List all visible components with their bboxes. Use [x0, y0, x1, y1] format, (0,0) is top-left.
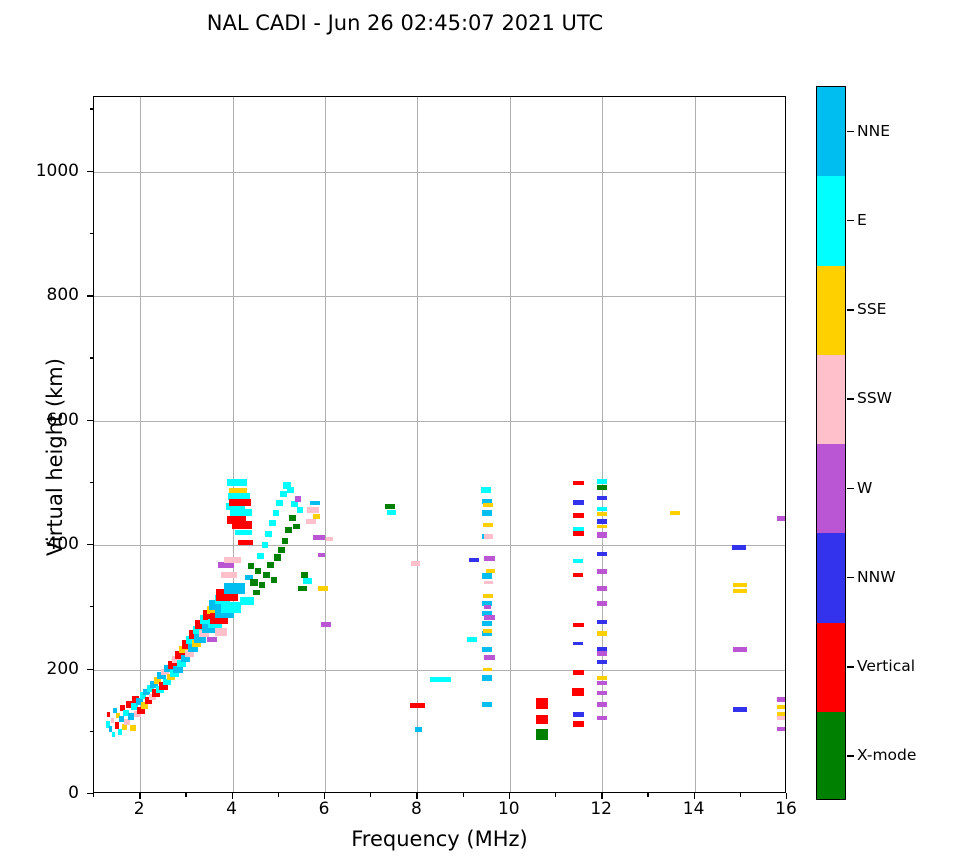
echo-mark [777, 705, 786, 709]
echo-mark [483, 503, 493, 507]
echo-mark [221, 602, 241, 613]
colorbar-segment-w [817, 444, 845, 533]
colorbar [816, 86, 846, 800]
echo-mark [597, 512, 607, 516]
echo-mark [573, 500, 584, 505]
y-tick-label-1000: 1000 [0, 161, 79, 181]
echo-mark [484, 556, 494, 561]
gridline-x-4 [233, 97, 234, 792]
echo-mark [306, 519, 316, 524]
colorbar-segment-x-mode [817, 712, 845, 800]
echo-mark [313, 514, 319, 518]
y-tick-label-200: 200 [0, 659, 79, 679]
echo-mark [271, 577, 277, 583]
echo-mark [484, 534, 493, 538]
y-minor-tick-700 [90, 357, 94, 358]
x-axis-label: Frequency (MHz) [93, 827, 786, 851]
echo-mark [597, 496, 607, 500]
gridline-x-14 [695, 97, 696, 792]
echo-mark [483, 594, 493, 598]
echo-mark [483, 668, 492, 672]
colorbar-label-sse: SSE [857, 300, 886, 318]
echo-mark [597, 631, 607, 635]
colorbar-segment-sse [817, 266, 845, 355]
x-tick-label-4: 4 [226, 799, 237, 819]
gridline-x-2 [140, 97, 141, 792]
gridline-y-400 [94, 545, 785, 546]
echo-mark [321, 622, 331, 627]
y-tick-600 [87, 420, 93, 421]
colorbar-label-w: W [857, 479, 872, 497]
echo-mark [481, 487, 491, 493]
y-tick-400 [87, 544, 93, 545]
echo-mark [298, 586, 307, 592]
echo-mark [597, 552, 607, 556]
echo-mark [285, 527, 292, 533]
gridline-x-12 [602, 97, 603, 792]
echo-mark [265, 531, 271, 537]
echo-mark [777, 516, 786, 521]
echo-mark [122, 724, 128, 730]
x-tick-label-14: 14 [683, 799, 705, 819]
y-tick-label-400: 400 [0, 534, 79, 554]
echo-mark [467, 637, 477, 641]
echo-mark [263, 572, 270, 578]
echo-mark [297, 507, 303, 513]
echo-mark [259, 582, 265, 588]
x-tick-label-8: 8 [411, 799, 422, 819]
echo-mark [229, 499, 250, 506]
y-tick-0 [87, 793, 93, 794]
y-tick-1000 [87, 171, 93, 172]
echo-mark [411, 561, 420, 566]
echo-mark [235, 530, 253, 536]
x-minor-tick-7 [370, 793, 371, 797]
y-tick-label-800: 800 [0, 285, 79, 305]
echo-mark [253, 590, 259, 596]
y-tick-label-0: 0 [0, 783, 79, 803]
x-minor-tick-1 [93, 793, 94, 797]
echo-mark [573, 573, 583, 577]
echo-mark [597, 507, 607, 511]
echo-mark [130, 725, 136, 731]
echo-mark [232, 521, 252, 528]
x-minor-tick-3 [185, 793, 186, 797]
gridline-y-600 [94, 421, 785, 422]
echo-mark [262, 542, 268, 548]
echo-mark [536, 729, 548, 740]
echo-mark [282, 538, 288, 544]
echo-mark [482, 702, 492, 708]
echo-mark [597, 716, 607, 720]
echo-mark [482, 621, 492, 626]
colorbar-tick-nnw [847, 577, 854, 578]
echo-mark [572, 688, 584, 697]
echo-mark [295, 496, 301, 502]
colorbar-segment-ssw [817, 355, 845, 444]
echo-mark [250, 579, 257, 585]
echo-mark [224, 583, 245, 594]
echo-mark [273, 510, 280, 516]
echo-mark [248, 563, 254, 569]
y-tick-200 [87, 669, 93, 670]
echo-mark [227, 479, 247, 486]
y-tick-800 [87, 295, 93, 296]
echo-mark [293, 524, 299, 530]
colorbar-tick-w [847, 488, 854, 489]
echo-mark [484, 581, 493, 585]
echo-mark [484, 655, 494, 660]
y-minor-tick-300 [90, 606, 94, 607]
echo-mark [597, 681, 607, 685]
colorbar-tick-x-mode [847, 755, 854, 756]
echo-mark [221, 572, 237, 579]
x-tick-label-16: 16 [775, 799, 797, 819]
echo-mark [573, 481, 584, 485]
echo-mark [573, 721, 584, 727]
echo-mark [597, 691, 607, 695]
echo-mark [280, 491, 287, 497]
echo-mark [289, 515, 296, 521]
echo-mark [255, 568, 261, 574]
echo-mark [230, 509, 251, 516]
echo-mark [326, 537, 333, 541]
colorbar-tick-e [847, 220, 854, 221]
echo-mark [229, 488, 247, 494]
echo-mark [597, 702, 607, 706]
echo-mark [482, 647, 492, 652]
echo-mark [573, 531, 584, 536]
echo-mark [482, 675, 492, 681]
colorbar-segment-nne [817, 87, 845, 176]
echo-mark [573, 670, 584, 675]
echo-mark [733, 583, 747, 587]
echo-mark [278, 547, 284, 553]
echo-mark [238, 540, 254, 545]
x-tick-label-2: 2 [134, 799, 145, 819]
gridline-y-800 [94, 296, 785, 297]
echo-mark [597, 519, 607, 523]
echo-mark [207, 637, 217, 643]
echo-mark [733, 707, 747, 711]
echo-mark [224, 557, 241, 564]
y-minor-tick-500 [90, 482, 94, 483]
colorbar-label-vertical: Vertical [857, 657, 915, 675]
echo-mark [318, 586, 328, 591]
echo-mark [287, 487, 294, 493]
echo-mark [597, 601, 607, 606]
colorbar-label-e: E [857, 211, 867, 229]
echo-mark [777, 697, 786, 703]
echo-mark [597, 525, 607, 529]
echo-mark [313, 535, 325, 540]
colorbar-label-nnw: NNW [857, 568, 896, 586]
echo-mark [597, 620, 607, 624]
echo-mark [484, 615, 494, 620]
y-axis-label: Virtual height (km) [43, 307, 67, 607]
echo-mark [267, 562, 274, 568]
echo-mark [777, 727, 786, 731]
echo-mark [597, 651, 607, 655]
gridline-y-1000 [94, 172, 785, 173]
echo-mark [107, 712, 110, 718]
echo-mark [573, 559, 583, 563]
echo-mark [410, 703, 426, 707]
colorbar-label-x-mode: X-mode [857, 746, 916, 764]
colorbar-tick-sse [847, 309, 854, 310]
x-minor-tick-5 [278, 793, 279, 797]
echo-mark [483, 523, 493, 527]
echo-mark [536, 698, 548, 709]
echo-mark [597, 660, 607, 664]
echo-mark [269, 520, 275, 526]
x-tick-label-12: 12 [590, 799, 612, 819]
y-minor-tick-1100 [90, 108, 94, 109]
echo-mark [387, 510, 396, 515]
y-tick-label-600: 600 [0, 410, 79, 430]
colorbar-segment-nnw [817, 533, 845, 622]
gridline-x-8 [417, 97, 418, 792]
colorbar-segment-vertical [817, 623, 845, 712]
echo-mark [385, 504, 395, 510]
echo-mark [301, 572, 308, 578]
ionogram-figure: NAL CADI - Jun 26 02:45:07 2021 UTC 2468… [0, 0, 958, 857]
echo-mark [257, 553, 263, 559]
echo-mark [482, 510, 492, 516]
echo-mark [597, 532, 607, 538]
page-title: NAL CADI - Jun 26 02:45:07 2021 UTC [0, 11, 810, 35]
gridline-x-10 [510, 97, 511, 792]
colorbar-tick-ssw [847, 398, 854, 399]
echo-mark [484, 605, 491, 609]
echo-mark [303, 578, 311, 584]
echo-mark [670, 511, 680, 515]
echo-mark [573, 513, 584, 518]
x-tick-label-10: 10 [498, 799, 520, 819]
echo-mark [486, 569, 495, 573]
gridline-x-6 [325, 97, 326, 792]
echo-mark [469, 558, 479, 563]
colorbar-tick-nne [847, 131, 854, 132]
plot-area [93, 96, 786, 793]
echo-mark [597, 479, 607, 483]
x-minor-tick-15 [740, 793, 741, 797]
echo-mark [318, 553, 325, 557]
x-minor-tick-9 [463, 793, 464, 797]
echo-mark [597, 586, 607, 590]
echo-mark [597, 485, 607, 490]
colorbar-label-ssw: SSW [857, 389, 892, 407]
echo-mark [597, 676, 607, 680]
echo-mark [777, 716, 786, 720]
x-minor-tick-13 [647, 793, 648, 797]
echo-mark [483, 629, 492, 633]
colorbar-segment-e [817, 176, 845, 265]
x-minor-tick-11 [555, 793, 556, 797]
echo-mark [415, 727, 422, 732]
echo-mark [573, 712, 584, 717]
echo-mark [733, 589, 747, 593]
echo-mark [112, 732, 115, 737]
echo-mark [732, 545, 746, 549]
echo-mark [215, 628, 227, 635]
colorbar-tick-vertical [847, 666, 854, 667]
echo-mark [733, 647, 747, 651]
echo-mark [536, 715, 548, 724]
colorbar-label-nne: NNE [857, 122, 890, 140]
echo-mark [573, 642, 583, 646]
echo-mark [430, 677, 451, 683]
echo-mark [307, 507, 318, 513]
echo-mark [482, 573, 492, 579]
echo-mark [276, 500, 282, 506]
echo-mark [573, 623, 584, 627]
echo-mark [115, 722, 120, 728]
gridline-y-200 [94, 670, 785, 671]
echo-mark [274, 554, 281, 560]
echo-mark [173, 666, 182, 673]
echo-mark [111, 718, 115, 724]
echo-mark [597, 569, 607, 574]
y-minor-tick-100 [90, 731, 94, 732]
echo-mark [310, 501, 320, 505]
echo-mark [240, 597, 254, 604]
y-minor-tick-900 [90, 233, 94, 234]
x-tick-label-6: 6 [319, 799, 330, 819]
